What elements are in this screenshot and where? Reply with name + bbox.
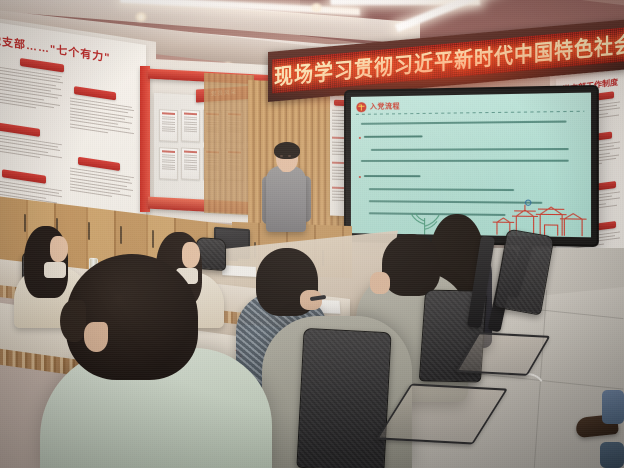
office-chair[interactable] bbox=[296, 328, 391, 468]
poster-left-text bbox=[70, 97, 136, 157]
attendee-3-hair-side bbox=[60, 300, 86, 342]
bulletin-card bbox=[159, 147, 178, 180]
slide-text-line bbox=[361, 120, 567, 124]
slide-text-line bbox=[369, 188, 514, 191]
slide-text-line bbox=[371, 148, 569, 150]
poster-left-text bbox=[0, 66, 64, 128]
conference-room-photo: 党支部……"七个有力" bbox=[0, 0, 624, 468]
attendee-5-hair bbox=[382, 234, 440, 296]
slide-heading: 入党流程 bbox=[370, 101, 400, 112]
poster-left-heading bbox=[0, 123, 40, 137]
attendee-5-ear bbox=[370, 272, 390, 294]
attendee-2-face-front bbox=[182, 242, 200, 268]
downlight-icon bbox=[310, 3, 323, 12]
cabinet-handle[interactable] bbox=[88, 222, 90, 240]
wood-slat-wall-secondary bbox=[204, 73, 254, 216]
slide-text-line bbox=[364, 175, 421, 177]
presenter-body bbox=[266, 166, 306, 232]
red-architecture-illustration bbox=[493, 199, 587, 236]
slide-screen: 入党流程 bbox=[351, 93, 591, 238]
presenter-eye bbox=[280, 155, 283, 157]
attendee-3-ear bbox=[84, 322, 108, 352]
bulletin-card bbox=[181, 109, 200, 142]
bulletin-card bbox=[181, 147, 200, 180]
attendee-1-collar bbox=[44, 262, 66, 278]
attendee-1-face-front bbox=[50, 236, 68, 262]
cabinet-handle[interactable] bbox=[152, 230, 154, 248]
presenter-hair bbox=[274, 142, 300, 159]
poster-left-text bbox=[0, 134, 64, 172]
slide-bullet-icon bbox=[359, 137, 361, 139]
board-valance-left bbox=[140, 66, 150, 212]
bulletin-card bbox=[159, 109, 178, 142]
party-emblem-icon bbox=[356, 102, 367, 113]
trouser-leg bbox=[600, 442, 624, 468]
paper-document[interactable] bbox=[222, 265, 256, 277]
slide-text-line bbox=[364, 135, 423, 137]
downlight-icon bbox=[134, 12, 148, 22]
slide-text-line bbox=[361, 160, 569, 162]
slide-bullet-icon bbox=[359, 176, 361, 178]
cabinet-handle[interactable] bbox=[24, 214, 26, 232]
presenter-eye bbox=[288, 155, 291, 157]
cabinet-handle[interactable] bbox=[120, 226, 122, 244]
trouser-leg bbox=[602, 390, 624, 424]
